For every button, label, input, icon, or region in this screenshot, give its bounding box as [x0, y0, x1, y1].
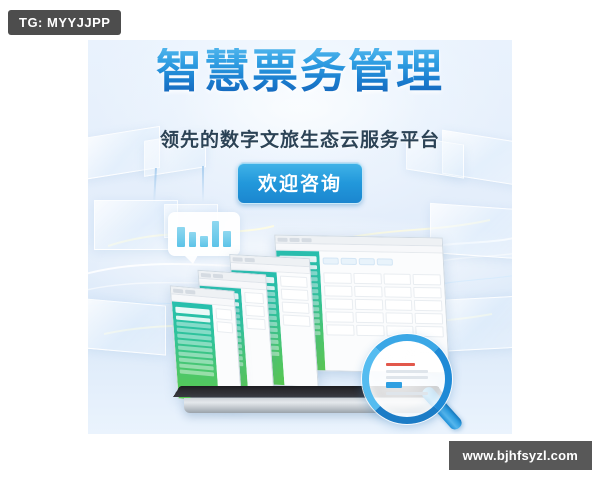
magnifier-icon[interactable]	[362, 334, 438, 410]
magnifier-lens	[362, 334, 452, 424]
sidebar-logo	[175, 307, 209, 316]
laptop-scene	[166, 230, 456, 430]
window-content	[277, 272, 318, 388]
poster-canvas: 智慧票务管理 领先的数字文旅生态云服务平台 欢迎咨询	[88, 40, 512, 434]
content-filters	[323, 254, 441, 274]
telegram-badge: TG: MYYJJPP	[8, 10, 121, 35]
page-subtitle: 领先的数字文旅生态云服务平台	[88, 125, 512, 152]
website-watermark: www.bjhfsyzl.com	[449, 441, 592, 470]
magnified-content	[386, 363, 428, 398]
cta-wrapper: 欢迎咨询	[88, 162, 512, 204]
consult-button[interactable]: 欢迎咨询	[237, 162, 363, 204]
glass-panel-left-5	[88, 298, 166, 355]
page-title: 智慧票务管理	[88, 48, 512, 94]
